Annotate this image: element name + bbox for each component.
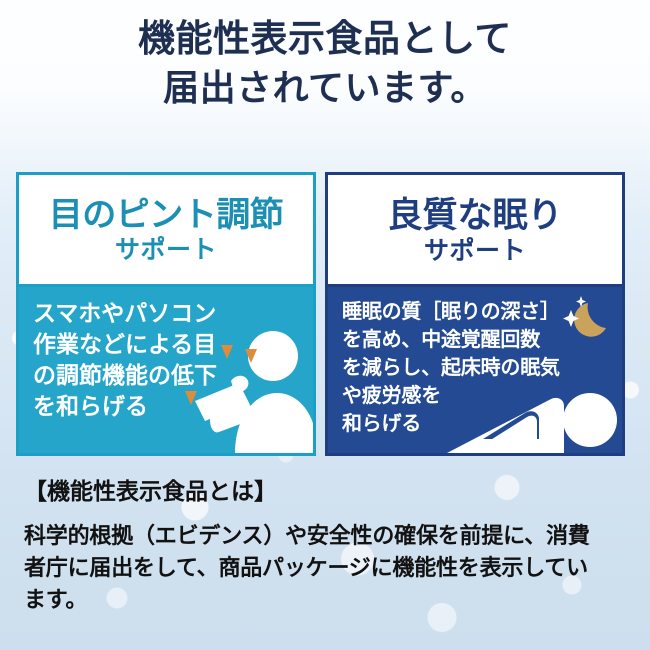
eye-card-body-text: スマホやパソコン 作業などによる目 の調節機能の低下 を和らげる bbox=[33, 298, 217, 422]
eye-card-subtitle: サポート bbox=[115, 235, 217, 265]
definition-line-1: 科学的根拠（エビデンス）や安全性の確保を前提に、消費 bbox=[24, 520, 632, 552]
eye-card-header: 目のピント調節 サポート bbox=[19, 175, 313, 287]
eye-body-line-2: 作業などによる目 bbox=[33, 329, 217, 360]
page-title-line-1: 機能性表示食品として bbox=[0, 14, 650, 63]
sleep-card-title: 良質な眠り bbox=[387, 196, 562, 236]
eye-card-title: 目のピント調節 bbox=[49, 196, 284, 235]
feature-card-row: 目のピント調節 サポート bbox=[16, 172, 634, 456]
definition-line-2: 者庁に届出をして、商品パッケージに機能性を表示してい bbox=[24, 552, 632, 584]
infographic-page: 機能性表示食品として 届出されています。 目のピント調節 サポート bbox=[0, 0, 650, 650]
sleep-body-line-1: 睡眠の質［眠りの深さ］ bbox=[342, 298, 560, 326]
definition-body: 科学的根拠（エビデンス）や安全性の確保を前提に、消費 者庁に届出をして、商品パッ… bbox=[24, 520, 632, 616]
eye-body-line-3: の調節機能の低下 bbox=[33, 360, 217, 391]
sleep-card-body-text: 睡眠の質［眠りの深さ］ を高め、中途覚醒回数 を減らし、起床時の眠気 や疲労感を… bbox=[342, 298, 560, 438]
definition-section: 【機能性表示食品とは】 科学的根拠（エビデンス）や安全性の確保を前提に、消費 者… bbox=[24, 476, 632, 616]
eye-body-line-4: を和らげる bbox=[33, 391, 217, 422]
definition-heading: 【機能性表示食品とは】 bbox=[24, 476, 632, 506]
eye-card-body: スマホやパソコン 作業などによる目 の調節機能の低下 を和らげる bbox=[19, 287, 313, 453]
sleep-card-subtitle: サポート bbox=[424, 236, 526, 266]
sleep-body-line-4: や疲労感を bbox=[342, 382, 560, 410]
feature-card-eye-focus: 目のピント調節 サポート bbox=[16, 172, 316, 456]
sleep-body-line-3: を減らし、起床時の眠気 bbox=[342, 354, 560, 382]
sleep-card-header: 良質な眠り サポート bbox=[328, 175, 622, 287]
eye-body-line-1: スマホやパソコン bbox=[33, 298, 217, 329]
crescent-moon-icon bbox=[558, 292, 614, 348]
page-title-line-2: 届出されています。 bbox=[0, 63, 650, 112]
definition-line-3: ます。 bbox=[24, 584, 632, 616]
sleep-body-line-2: を高め、中途覚醒回数 bbox=[342, 326, 560, 354]
page-title: 機能性表示食品として 届出されています。 bbox=[0, 14, 650, 112]
feature-card-quality-sleep: 良質な眠り サポート bbox=[325, 172, 625, 456]
sleep-card-body: 睡眠の質［眠りの深さ］ を高め、中途覚醒回数 を減らし、起床時の眠気 や疲労感を… bbox=[328, 287, 622, 453]
sleep-body-line-5: 和らげる bbox=[342, 410, 560, 438]
